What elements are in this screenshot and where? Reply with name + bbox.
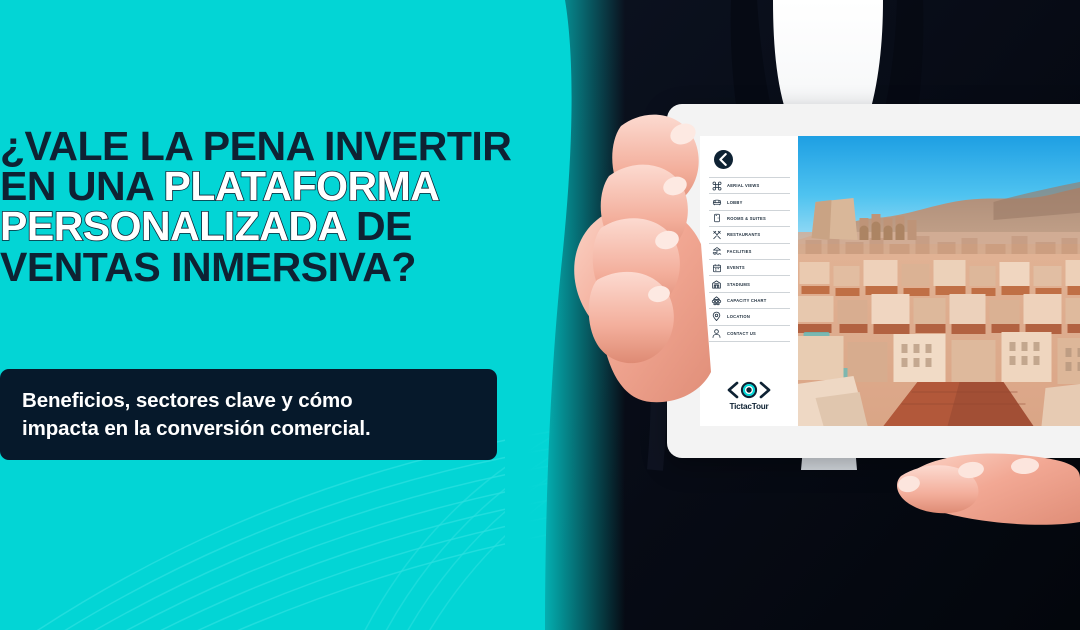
headline-line-4: VENTAS INMERSIVA? xyxy=(0,244,416,290)
right-hand xyxy=(897,454,1080,525)
subtitle-card: Beneficios, sectores clave y cómo impact… xyxy=(0,369,497,460)
headline-line-1: ¿VALE LA PENA INVERTIR xyxy=(0,123,511,169)
subtitle-line-1: Beneficios, sectores clave y cómo xyxy=(22,389,353,412)
headline-line-3a: PERSONALIZADA xyxy=(0,203,356,249)
subtitle-text: Beneficios, sectores clave y cómo impact… xyxy=(22,387,371,442)
person-holding-tablet-photo: AERIAL VIEWS LOBBY xyxy=(505,0,1080,630)
subtitle-line-2: impacta en la conversión comercial. xyxy=(22,417,371,440)
headline-line-3b: DE xyxy=(356,203,412,249)
poster-canvas: AERIAL VIEWS LOBBY xyxy=(0,0,1080,630)
headline-line-2a: EN UNA xyxy=(0,163,164,209)
page-title: ¿VALE LA PENA INVERTIR EN UNA PLATAFORMA… xyxy=(0,126,540,287)
headline-line-2b: PLATAFORMA xyxy=(164,163,440,209)
